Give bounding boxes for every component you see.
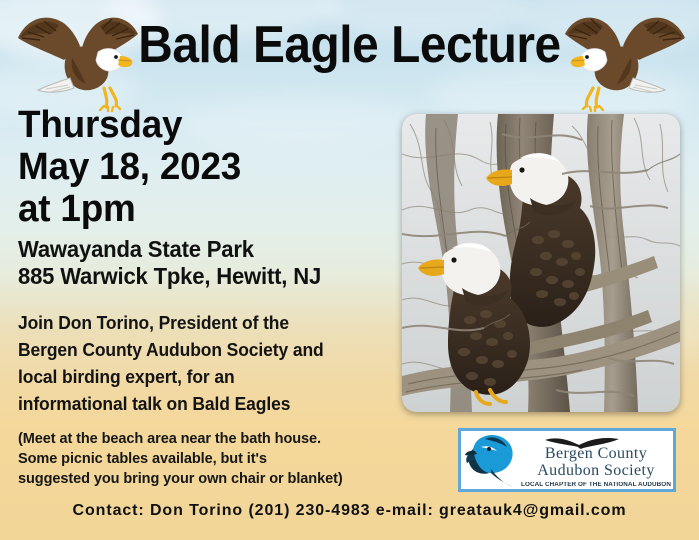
venue-block: Wawayanda State Park 885 Warwick Tpke, H… (18, 236, 334, 290)
bergen-county-audubon-society-logo: Bergen County Audubon Society LOCAL CHAP… (458, 428, 676, 492)
note-line: suggested you bring your own chair or bl… (18, 469, 343, 489)
event-day: Thursday (18, 104, 241, 146)
description-line: local birding expert, for an (18, 364, 324, 391)
event-time: at 1pm (18, 188, 241, 230)
event-date: May 18, 2023 (18, 146, 241, 188)
description-block: Join Don Torino, President of the Bergen… (18, 310, 333, 418)
note-line: Some picnic tables available, but it's (18, 449, 343, 469)
meeting-note-block: (Meet at the beach area near the bath ho… (18, 429, 353, 489)
logo-line-2: Audubon Society (515, 462, 676, 479)
page-title: Bald Eagle Lecture (28, 16, 671, 74)
description-line: Join Don Torino, President of the (18, 310, 324, 337)
eagle-photograph (402, 114, 680, 412)
event-date-block: Thursday May 18, 2023 at 1pm (18, 104, 248, 230)
venue-name: Wawayanda State Park (18, 236, 321, 263)
venue-address: 885 Warwick Tpke, Hewitt, NJ (18, 263, 321, 290)
note-line: (Meet at the beach area near the bath ho… (18, 429, 343, 449)
description-line: Bergen County Audubon Society and (18, 337, 324, 364)
contact-line: Contact: Don Torino (201) 230-4983 e-mai… (0, 500, 699, 522)
logo-line-1: Bergen County (515, 445, 676, 462)
description-line: informational talk on Bald Eagles (18, 391, 324, 418)
logo-tagline: LOCAL CHAPTER OF THE NATIONAL AUDUBON SO… (511, 481, 676, 492)
poster-flyer: Bald Eagle Lecture Thursday May 18, 2023… (0, 0, 699, 540)
logo-text: Bergen County Audubon Society LOCAL CHAP… (515, 445, 676, 492)
